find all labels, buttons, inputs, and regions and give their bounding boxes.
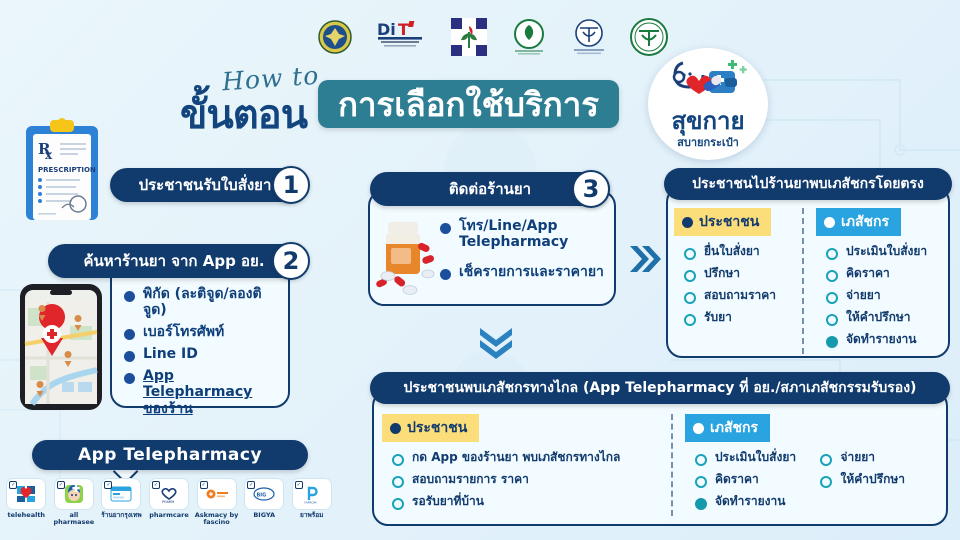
list-item: สอบถามรายการ ราคา	[392, 472, 671, 488]
remote-pharmacist-subcolumn-2: จ่ายยา ให้คำปรึกษา	[820, 450, 940, 516]
list-item: ให้คำปรึกษา	[826, 310, 938, 326]
step-2-item-2: Line ID	[143, 346, 198, 362]
app-item-all-pharmasee[interactable]: ✓ all pharmasee	[52, 478, 97, 530]
badge-dot-icon	[693, 423, 704, 434]
list-item: คิดราคา	[826, 266, 938, 282]
badge-dot-icon	[824, 217, 835, 228]
remote-panel-header: ประชาชนพบเภสัชกรทางไกล (App Telepharmacy…	[370, 372, 950, 404]
list-item: ให้คำปรึกษา	[820, 472, 940, 488]
svg-text:Di: Di	[377, 20, 396, 39]
bullet-dot-icon	[440, 223, 451, 234]
svg-text:x: x	[45, 148, 53, 162]
remote-citizen-item-1: สอบถามรายการ ราคา	[412, 472, 529, 486]
column-divider	[671, 414, 673, 516]
onsite-citizen-item-0: ยื่นใบสั่งยา	[704, 244, 760, 258]
list-item: ประเมินใบสั่งยา	[826, 244, 938, 260]
garuda-emblem-logo	[318, 16, 352, 58]
ring-filled-icon	[695, 498, 707, 510]
onsite-panel-header: ประชาชนไปร้านยาพบเภสัชกรโดยตรง	[664, 168, 952, 200]
checkbox-icon: ✓	[57, 481, 65, 489]
svg-text:T: T	[398, 20, 409, 39]
ring-filled-icon	[826, 336, 838, 348]
status-badge-citizen: ประชาชน	[382, 414, 479, 442]
column-divider	[802, 208, 804, 354]
app-telepharmacy-header: App Telepharmacy	[32, 440, 308, 470]
app-icon-strip: ✓ telehealth ✓ all pharm	[4, 478, 334, 530]
bullet-dot-icon	[124, 329, 135, 340]
step-2-item-3[interactable]: App Telepharmacy ของร้าน	[143, 368, 278, 416]
ring-icon	[695, 476, 707, 488]
telehealth-icon[interactable]: ✓	[6, 478, 46, 510]
step-2-title: ค้นหาร้านยา จาก App อย.	[83, 249, 264, 273]
list-item: App Telepharmacy ของร้าน	[124, 368, 278, 416]
list-item: สอบถามราคา	[684, 288, 802, 304]
app-label: telehealth	[8, 512, 46, 519]
pill-bottle-icon	[372, 218, 442, 298]
ring-icon	[392, 454, 404, 466]
onsite-pharmacist-item-1: คิดราคา	[846, 266, 890, 280]
onsite-citizen-column: ประชาชน ยื่นใบสั่งยา ปรึกษา สอบถามราคา	[674, 208, 802, 354]
status-badge-pharmacist: เภสัชกร	[685, 414, 770, 442]
list-item: จ่ายยา	[826, 288, 938, 304]
remote-pharmacist-col2-item-0: จ่ายยา	[840, 450, 875, 464]
partner-logos: Di T	[318, 14, 668, 60]
app-item-yaprom[interactable]: ✓ YAPROM ยาพร้อม	[289, 478, 334, 530]
checkbox-icon: ✓	[152, 481, 160, 489]
step-2-item-0: พิกัด (ละติจูด/ลองติจูด)	[143, 286, 278, 318]
remote-panel-title: ประชาชนพบเภสัชกรทางไกล (App Telepharmacy…	[404, 377, 917, 399]
list-item: คิดราคา	[695, 472, 815, 488]
step-2-number: 2	[272, 242, 310, 280]
app-item-askmacy[interactable]: ✓ Askmacy by fascino	[194, 478, 239, 530]
double-chevron-down-icon	[476, 326, 516, 362]
ring-icon	[695, 454, 707, 466]
list-item: จัดทำรายงาน	[826, 332, 938, 348]
onsite-citizen-item-1: ปรึกษา	[704, 266, 740, 280]
all-pharmasee-icon[interactable]: ✓	[54, 478, 94, 510]
list-item: ปรึกษา	[684, 266, 802, 282]
checkbox-icon: ✓	[295, 481, 303, 489]
remote-citizen-item-0: กด App ของร้านยา พบเภสัชกรทางไกล	[412, 450, 620, 464]
onsite-pharmacist-item-4: จัดทำรายงาน	[846, 332, 917, 346]
ring-icon	[826, 314, 838, 326]
remote-citizen-item-2: รอรับยาที่บ้าน	[412, 494, 484, 508]
bigya-icon[interactable]: ✓ BIG	[244, 478, 284, 510]
ring-icon	[820, 476, 832, 488]
badge-label: ประชาชน	[407, 417, 467, 439]
step-2-header: ค้นหาร้านยา จาก App อย.	[48, 244, 300, 278]
askmacy-by-fascino-icon[interactable]: ✓	[197, 478, 237, 510]
list-item: Line ID	[124, 346, 278, 362]
brand-line-1: สุขกาย	[671, 111, 744, 133]
badge-label: เภสัชกร	[841, 211, 889, 233]
badge-dot-icon	[390, 423, 401, 434]
step-3-title: ติดต่อร้านยา	[449, 177, 531, 201]
svg-text:BIG: BIG	[257, 493, 267, 499]
brand-line-2: สบายกระเป๋า	[677, 133, 739, 151]
remote-pharmacist-subcolumn-1: ประเมินใบสั่งยา คิดราคา จัดทำรายงาน	[695, 450, 815, 516]
list-item: ประเมินใบสั่งยา	[695, 450, 815, 466]
ranya-krungthep-icon[interactable]: ✓	[101, 478, 141, 510]
onsite-panel-columns: ประชาชน ยื่นใบสั่งยา ปรึกษา สอบถามราคา	[674, 208, 944, 354]
ring-icon	[684, 270, 696, 282]
list-item: จ่ายยา	[820, 450, 940, 466]
app-item-pharmcare[interactable]: ✓ PHARM pharmcare	[147, 478, 192, 530]
app-label: all pharmasee	[52, 512, 97, 526]
remote-pharmacist-col1-item-1: คิดราคา	[715, 472, 759, 486]
remote-pharmacist-column: เภสัชกร ประเมินใบสั่งยา คิดราคา จัดทำราย…	[673, 414, 940, 516]
checkbox-icon: ✓	[247, 481, 255, 489]
app-item-bigya[interactable]: ✓ BIG BIGYA	[242, 478, 287, 530]
list-item: รับยา	[684, 310, 802, 326]
brand-logo-sukkai: สุขกาย สบายกระเป๋า	[648, 48, 768, 160]
onsite-pharmacist-column: เภสัชกร ประเมินใบสั่งยา คิดราคา จ่ายยา	[804, 208, 938, 354]
app-item-ranya-krungthep[interactable]: ✓ ร้านยากรุงเทพ	[99, 478, 144, 530]
badge-dot-icon	[682, 217, 693, 228]
remote-pharmacist-col1-item-2: จัดทำรายงาน	[715, 494, 786, 508]
ring-icon	[392, 476, 404, 488]
onsite-pharmacist-item-3: ให้คำปรึกษา	[846, 310, 911, 324]
step-2-card: พิกัด (ละติจูด/ลองติจูด) เบอร์โทรศัพท์ L…	[110, 262, 290, 408]
infographic-canvas: Di T	[0, 0, 960, 540]
badge-label: เภสัชกร	[710, 417, 758, 439]
onsite-pharmacist-item-0: ประเมินใบสั่งยา	[846, 244, 927, 258]
app-label: ร้านยากรุงเทพ	[101, 512, 141, 519]
step-3-number: 3	[572, 170, 610, 208]
step-3-list: โทร/Line/App Telepharmacy เช็ครายการและร…	[440, 218, 612, 286]
remote-panel-columns: ประชาชน กด App ของร้านยา พบเภสัชกรทางไกล…	[382, 414, 940, 516]
status-badge-citizen: ประชาชน	[674, 208, 771, 236]
ring-icon	[684, 314, 696, 326]
step-3-item-0: โทร/Line/App Telepharmacy	[459, 218, 612, 250]
ring-icon	[826, 270, 838, 282]
app-label: ยาพร้อม	[300, 512, 323, 519]
onsite-pharmacist-item-2: จ่ายยา	[846, 288, 881, 302]
bullet-dot-icon	[124, 291, 135, 302]
bullet-dot-icon	[440, 269, 451, 280]
ring-icon	[826, 292, 838, 304]
ministry-public-health-logo	[451, 16, 487, 58]
app-label: pharmcare	[149, 512, 189, 519]
checkbox-icon: ✓	[9, 481, 17, 489]
bullet-dot-icon	[124, 373, 135, 384]
yaprom-icon[interactable]: ✓ YAPROM	[292, 478, 332, 510]
ring-icon	[684, 292, 696, 304]
list-item: กด App ของร้านยา พบเภสัชกรทางไกล	[392, 450, 671, 466]
remote-citizen-column: ประชาชน กด App ของร้านยา พบเภสัชกรทางไกล…	[382, 414, 671, 516]
list-item: ยื่นใบสั่งยา	[684, 244, 802, 260]
checkbox-icon: ✓	[200, 481, 208, 489]
onsite-citizen-item-3: รับยา	[704, 310, 732, 324]
ring-icon	[684, 248, 696, 260]
dit-logo: Di T	[376, 16, 426, 58]
status-badge-pharmacist: เภสัชกร	[816, 208, 901, 236]
step-2-item-1: เบอร์โทรศัพท์	[143, 324, 224, 340]
remote-pharmacist-col1-item-0: ประเมินใบสั่งยา	[715, 450, 796, 464]
page-title: การเลือกใช้บริการ	[318, 80, 619, 128]
list-item: จัดทำรายงาน	[695, 494, 815, 510]
list-item: เช็ครายการและราคายา	[440, 264, 612, 280]
department-health-service-support-logo	[511, 16, 547, 58]
svg-text:PHARM: PHARM	[162, 500, 174, 504]
khanton-heading: ขั้นตอน	[180, 82, 307, 146]
badge-label: ประชาชน	[699, 211, 759, 233]
stethoscope-heart-wallet-icon	[665, 57, 751, 109]
ring-icon	[392, 498, 404, 510]
step-1-number: 1	[272, 166, 310, 204]
list-item: พิกัด (ละติจูด/ลองติจูด)	[124, 286, 278, 318]
app-telepharmacy-title: App Telepharmacy	[78, 445, 262, 465]
ring-icon	[826, 248, 838, 260]
remote-pharmacist-col2-item-1: ให้คำปรึกษา	[840, 472, 905, 486]
double-chevron-right-icon	[628, 242, 662, 276]
fda-thailand-logo	[630, 16, 668, 58]
app-label: Askmacy by fascino	[194, 512, 239, 526]
svg-text:YAPROM: YAPROM	[304, 501, 317, 505]
checkbox-icon: ✓	[104, 481, 112, 489]
prescription-clipboard-icon: R x PRESCRIPTION	[12, 112, 112, 224]
list-item: โทร/Line/App Telepharmacy	[440, 218, 612, 250]
step-3-item-1: เช็ครายการและราคายา	[459, 264, 604, 280]
app-item-telehealth[interactable]: ✓ telehealth	[4, 478, 49, 530]
page-title-text: การเลือกใช้บริการ	[338, 78, 599, 131]
step-1-title: ประชาชนรับใบสั่งยา	[139, 173, 272, 197]
pharmcare-icon[interactable]: ✓ PHARM	[149, 478, 189, 510]
bullet-dot-icon	[124, 351, 135, 362]
phone-map-pin-icon	[18, 282, 104, 412]
list-item: รอรับยาที่บ้าน	[392, 494, 671, 510]
onsite-citizen-item-2: สอบถามราคา	[704, 288, 776, 302]
list-item: เบอร์โทรศัพท์	[124, 324, 278, 340]
app-label: BIGYA	[253, 512, 275, 519]
ring-icon	[820, 454, 832, 466]
svg-text:PRESCRIPTION: PRESCRIPTION	[38, 166, 96, 174]
onsite-panel-title: ประชาชนไปร้านยาพบเภสัชกรโดยตรง	[692, 173, 924, 195]
pharmacy-council-logo	[572, 16, 606, 58]
